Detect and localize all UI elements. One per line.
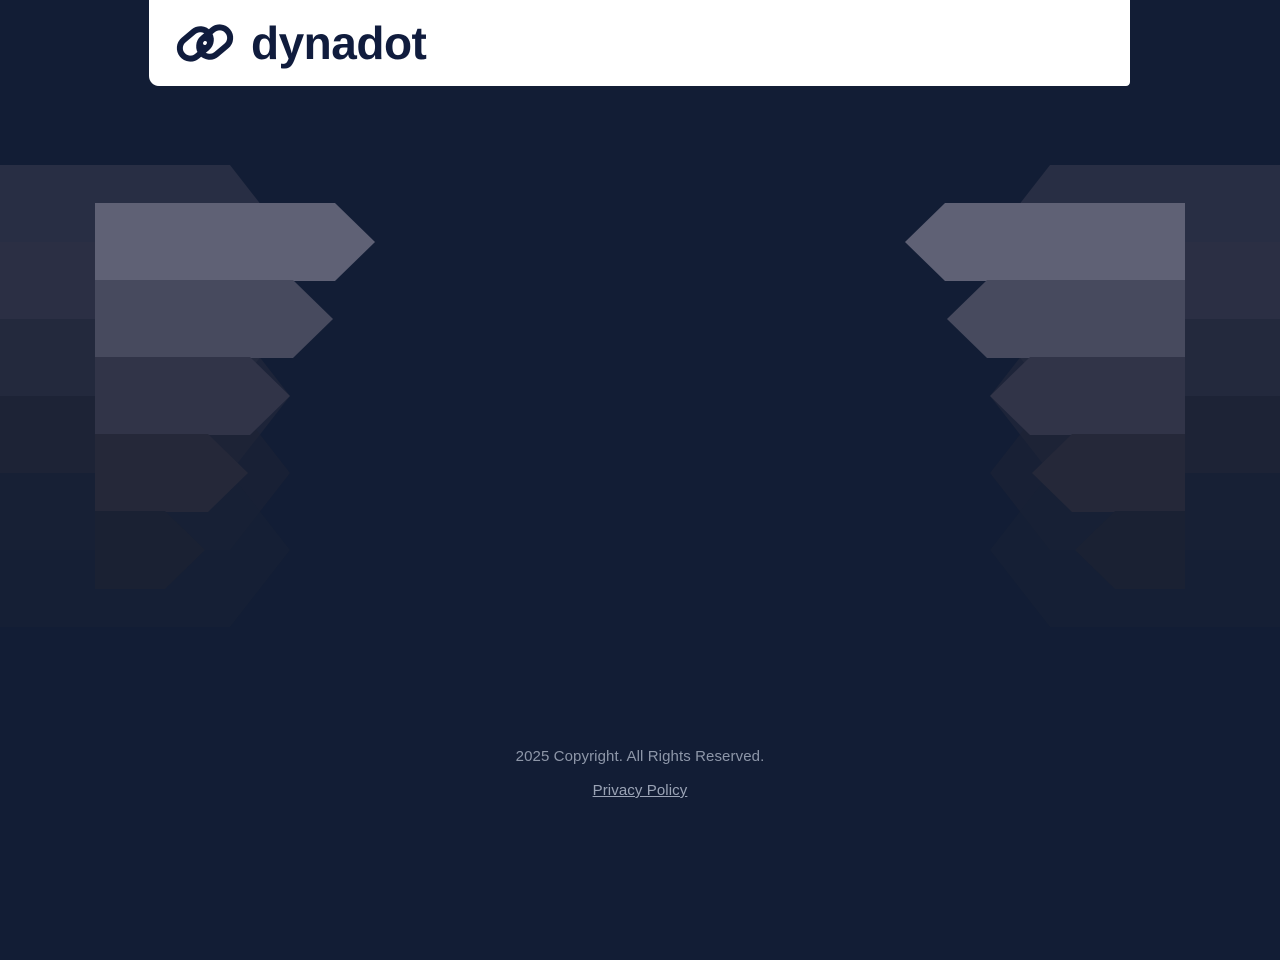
dynadot-chain-link-logo-icon (174, 14, 236, 72)
privacy-policy-link[interactable]: Privacy Policy (593, 778, 688, 804)
site-header: dynadot (149, 0, 1130, 86)
left-chevron-bands (95, 203, 375, 589)
background-decoration (0, 0, 1280, 960)
page-root: dynadot 2025 Copyright. All Rights Reser… (0, 0, 1280, 960)
right-ghost-bands (990, 165, 1280, 627)
brand-logo[interactable]: dynadot (174, 14, 426, 72)
site-footer: 2025 Copyright. All Rights Reserved. Pri… (0, 744, 1280, 804)
copyright-text: 2025 Copyright. All Rights Reserved. (0, 744, 1280, 770)
right-chevron-bands (905, 203, 1185, 589)
brand-wordmark: dynadot (251, 20, 426, 66)
left-ghost-bands (0, 165, 290, 627)
